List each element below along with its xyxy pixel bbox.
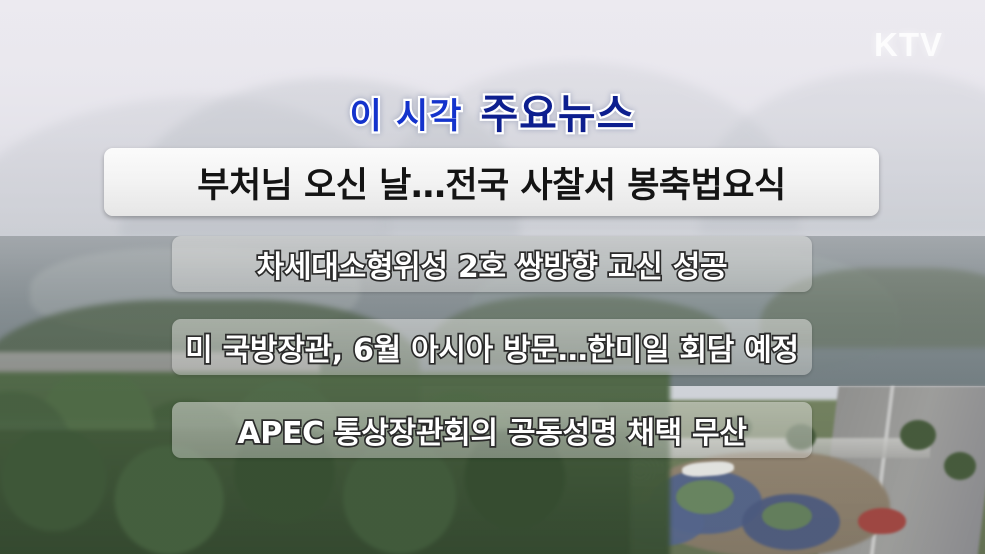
headline-item-3-text: APEC 통상장관회의 공동성명 채택 무산 <box>237 408 746 452</box>
headline-item-3[interactable]: APEC 통상장관회의 공동성명 채택 무산 <box>172 402 812 458</box>
broadcast-screen: KTV 이 시각주요뉴스 이 시각주요뉴스 부처님 오신 날…전국 사찰서 봉축… <box>0 0 985 554</box>
headline-item-2-text: 미 국방장관, 6월 아시아 방문…한미일 회담 예정 <box>185 325 799 369</box>
headline-featured[interactable]: 부처님 오신 날…전국 사찰서 봉축법요식 <box>104 148 879 216</box>
headline-list: 부처님 오신 날…전국 사찰서 봉축법요식 차세대소형위성 2호 쌍방향 교신 … <box>0 0 985 554</box>
headline-item-1[interactable]: 차세대소형위성 2호 쌍방향 교신 성공 <box>172 236 812 292</box>
headline-item-1-text: 차세대소형위성 2호 쌍방향 교신 성공 <box>257 242 728 286</box>
headline-item-2[interactable]: 미 국방장관, 6월 아시아 방문…한미일 회담 예정 <box>172 319 812 375</box>
headline-featured-text: 부처님 오신 날…전국 사찰서 봉축법요식 <box>197 157 785 208</box>
